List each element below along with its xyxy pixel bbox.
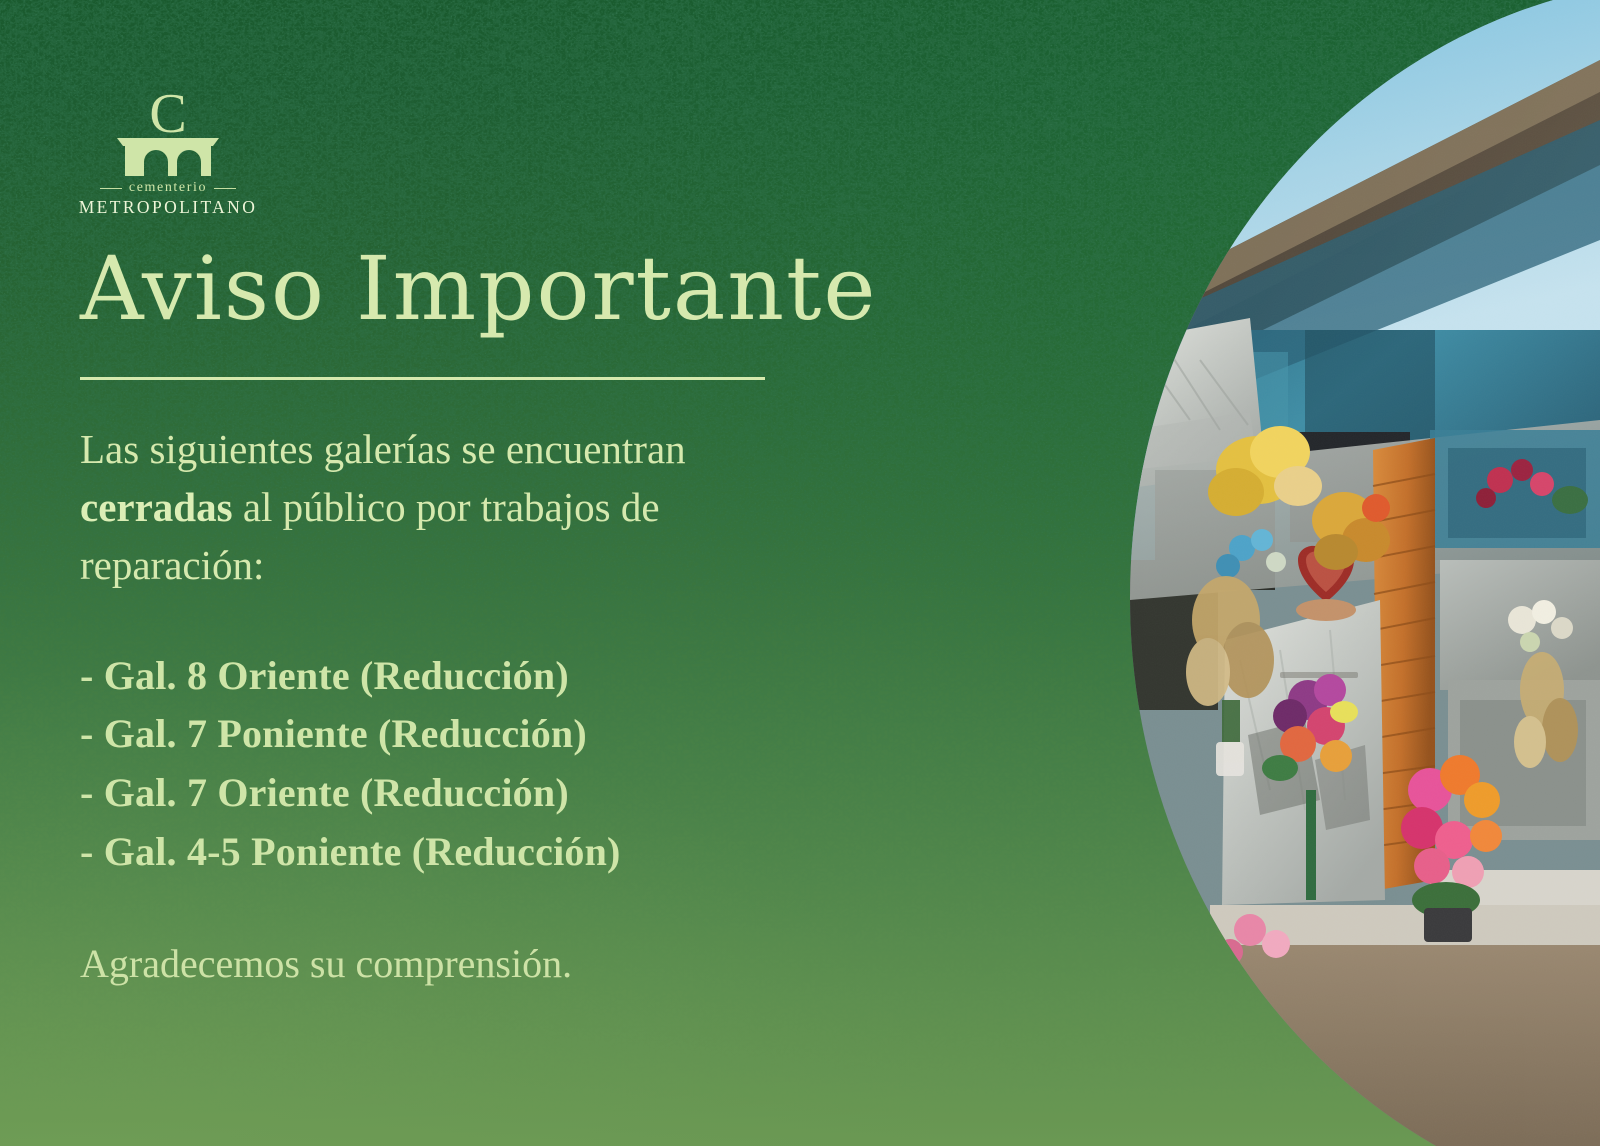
page-title: Aviso Importante xyxy=(80,245,840,333)
brand-logo: C cementerio METROPOLITANO xyxy=(78,84,258,218)
notice-intro: Las siguientes galerías se encuentran ce… xyxy=(80,420,840,595)
notice-poster: C cementerio METROPOLITANO Aviso Importa… xyxy=(0,0,1600,1146)
intro-lead: Las siguientes galerías se encuentran xyxy=(80,426,686,472)
list-item: - Gal. 7 Oriente (Reducción) xyxy=(80,764,840,823)
intro-emphasis: cerradas xyxy=(80,484,233,530)
title-divider xyxy=(80,377,765,380)
list-item: - Gal. 7 Poniente (Reducción) xyxy=(80,705,840,764)
logo-subtitle-row: cementerio xyxy=(78,180,258,196)
list-item: - Gal. 4-5 Poniente (Reducción) xyxy=(80,823,840,882)
list-item: - Gal. 8 Oriente (Reducción) xyxy=(80,647,840,706)
svg-text:C: C xyxy=(149,84,186,145)
cemetery-colonnade-monogram-icon: C xyxy=(109,84,227,176)
closing-message: Agradecemos su comprensión. xyxy=(80,938,840,990)
logo-title: METROPOLITANO xyxy=(78,197,258,218)
closed-galleries-list: - Gal. 8 Oriente (Reducción) - Gal. 7 Po… xyxy=(80,647,840,882)
logo-rule-left xyxy=(100,188,122,189)
logo-rule-right xyxy=(214,188,236,189)
logo-subtitle: cementerio xyxy=(129,180,207,196)
notice-content: Aviso Importante Las siguientes galerías… xyxy=(80,245,840,1030)
